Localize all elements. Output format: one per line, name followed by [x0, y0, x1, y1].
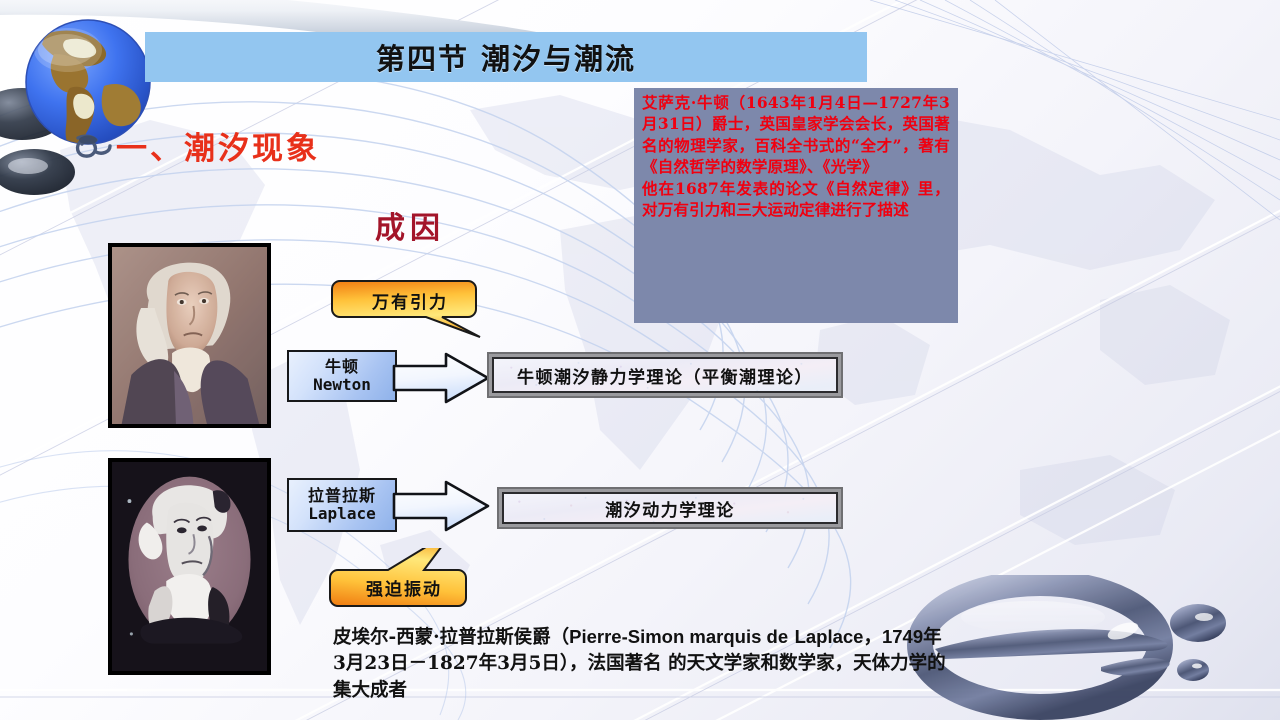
- newton-theory-box: 牛顿潮汐静力学理论（平衡潮理论）: [487, 352, 843, 398]
- newton-name-box: 牛顿 Newton: [287, 350, 397, 402]
- section-heading: 一、潮汐现象: [72, 132, 320, 166]
- slide-title-bar: 第四节 潮汐与潮流: [145, 32, 867, 82]
- gravity-callout: 万有引力: [330, 277, 490, 339]
- newton-flow-arrow: [392, 352, 490, 404]
- laplace-biography-text: 皮埃尔-西蒙·拉普拉斯侯爵（Pierre-Simon marquis de La…: [333, 624, 953, 704]
- section-heading-label: 一、潮汐现象: [116, 134, 320, 165]
- newton-name-cn: 牛顿: [325, 358, 359, 376]
- newton-theory-label: 牛顿潮汐静力学理论（平衡潮理论）: [517, 363, 813, 388]
- slide-title: 第四节 潮汐与潮流: [145, 32, 867, 82]
- bio-line2-latin: Laplace，1749: [795, 626, 924, 647]
- newton-info-paragraph-2: 他在1687年发表的论文《自然定律》里，对万有引力和三大运动定律进行了描述: [642, 178, 950, 221]
- laplace-theory-label: 潮汐动力学理论: [605, 496, 735, 521]
- laplace-name-cn: 拉普拉斯: [308, 487, 376, 505]
- forced-vibration-callout-label: 强迫振动: [328, 575, 480, 600]
- slide-canvas: 第四节 潮汐与潮流 一、潮汐现象 成因 艾萨克·牛顿（1643年1月4日—172…: [0, 0, 1280, 720]
- bio-line1-latin: Pierre-Simon marquis de: [569, 626, 788, 647]
- newton-portrait-image: [108, 243, 271, 428]
- cause-label: 成因: [375, 203, 445, 247]
- forced-vibration-callout: 强迫振动: [328, 548, 480, 610]
- laplace-name-en: Laplace: [308, 504, 375, 523]
- newton-info-box: 艾萨克·牛顿（1643年1月4日—1727年3月31日）爵士，英国皇家学会会长，…: [634, 88, 958, 323]
- laplace-portrait-image: [108, 458, 271, 675]
- glossy-e-logo: [905, 575, 1235, 720]
- laplace-name-box: 拉普拉斯 Laplace: [287, 478, 397, 532]
- newton-name-en: Newton: [313, 375, 371, 394]
- swirl-bullet-icon: [72, 132, 114, 166]
- laplace-theory-box: 潮汐动力学理论: [497, 487, 843, 529]
- gravity-callout-label: 万有引力: [330, 288, 490, 313]
- bio-line1-cn: 皮埃尔-西蒙·拉普拉斯侯爵（: [333, 627, 569, 648]
- newton-info-paragraph-1: 艾萨克·牛顿（1643年1月4日—1727年3月31日）爵士，英国皇家学会会长，…: [642, 92, 950, 178]
- laplace-flow-arrow: [392, 480, 490, 532]
